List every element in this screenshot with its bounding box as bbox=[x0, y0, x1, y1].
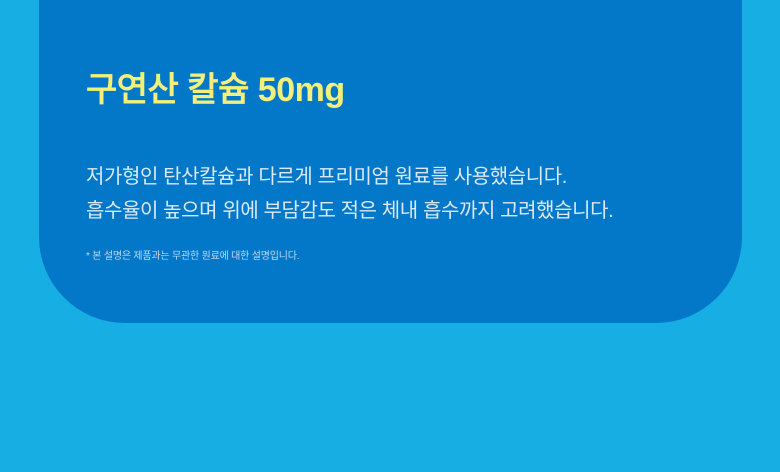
description-line-1: 저가형인 탄산칼슘과 다르게 프리미엄 원료를 사용했습니다. bbox=[86, 160, 613, 194]
description-line-2: 흡수율이 높으며 위에 부담감도 적은 체내 흡수까지 고려했습니다. bbox=[86, 194, 613, 228]
promo-banner: 구연산 칼슘 50mg 저가형인 탄산칼슘과 다르게 프리미엄 원료를 사용했습… bbox=[0, 0, 780, 472]
page-title: 구연산 칼슘 50mg bbox=[86, 72, 345, 109]
info-panel: 구연산 칼슘 50mg 저가형인 탄산칼슘과 다르게 프리미엄 원료를 사용했습… bbox=[39, 0, 742, 323]
description-list: 저가형인 탄산칼슘과 다르게 프리미엄 원료를 사용했습니다. 흡수율이 높으며… bbox=[86, 160, 613, 228]
disclaimer-note: * 본 설명은 제품과는 무관한 원료에 대한 설명입니다. bbox=[86, 250, 299, 264]
